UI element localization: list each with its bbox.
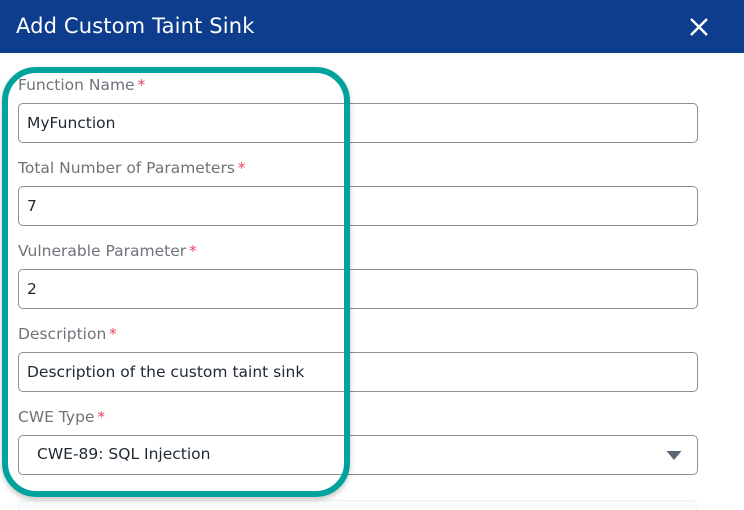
field-total-number-of-parameters: Total Number of Parameters* 7 — [18, 161, 698, 226]
input-value: 2 — [27, 280, 37, 298]
field-vulnerable-parameter: Vulnerable Parameter* 2 — [18, 244, 698, 309]
field-label-cwe-type: CWE Type* — [18, 410, 698, 426]
input-description[interactable]: Description of the custom taint sink — [18, 352, 698, 392]
dialog-title: Add Custom Taint Sink — [16, 16, 255, 37]
label-text: Vulnerable Parameter — [18, 242, 186, 260]
close-x-icon — [688, 16, 710, 38]
field-function-name: Function Name* MyFunction — [18, 78, 698, 143]
label-text: Total Number of Parameters — [18, 159, 235, 177]
input-value: 7 — [27, 197, 37, 215]
input-value: MyFunction — [27, 114, 115, 132]
close-button[interactable] — [682, 10, 716, 44]
input-value: Description of the custom taint sink — [27, 363, 304, 381]
label-text: Function Name — [18, 76, 135, 94]
chevron-down-icon[interactable] — [665, 449, 683, 461]
required-asterisk: * — [189, 242, 197, 260]
input-total-number-of-parameters[interactable]: 7 — [18, 186, 698, 226]
input-function-name[interactable]: MyFunction — [18, 103, 698, 143]
required-asterisk: * — [109, 325, 117, 343]
required-asterisk: * — [97, 408, 105, 426]
field-cwe-type: CWE Type* CWE-89: SQL Injection — [18, 410, 698, 475]
next-field-partial[interactable] — [18, 500, 698, 510]
select-cwe-type[interactable]: CWE-89: SQL Injection — [18, 435, 698, 475]
dialog-titlebar: Add Custom Taint Sink — [0, 0, 744, 53]
label-text: CWE Type — [18, 408, 94, 426]
required-asterisk: * — [138, 76, 146, 94]
form-body: Function Name* MyFunction Total Number o… — [0, 53, 744, 510]
field-label-description: Description* — [18, 327, 698, 343]
label-text: Description — [18, 325, 106, 343]
add-custom-taint-sink-dialog: Add Custom Taint Sink Function Name* MyF… — [0, 0, 744, 510]
select-selected-value: CWE-89: SQL Injection — [37, 447, 210, 463]
field-label-function-name: Function Name* — [18, 78, 698, 94]
field-label-total-number-of-parameters: Total Number of Parameters* — [18, 161, 698, 177]
required-asterisk: * — [238, 159, 246, 177]
field-label-vulnerable-parameter: Vulnerable Parameter* — [18, 244, 698, 260]
input-vulnerable-parameter[interactable]: 2 — [18, 269, 698, 309]
field-description: Description* Description of the custom t… — [18, 327, 698, 392]
